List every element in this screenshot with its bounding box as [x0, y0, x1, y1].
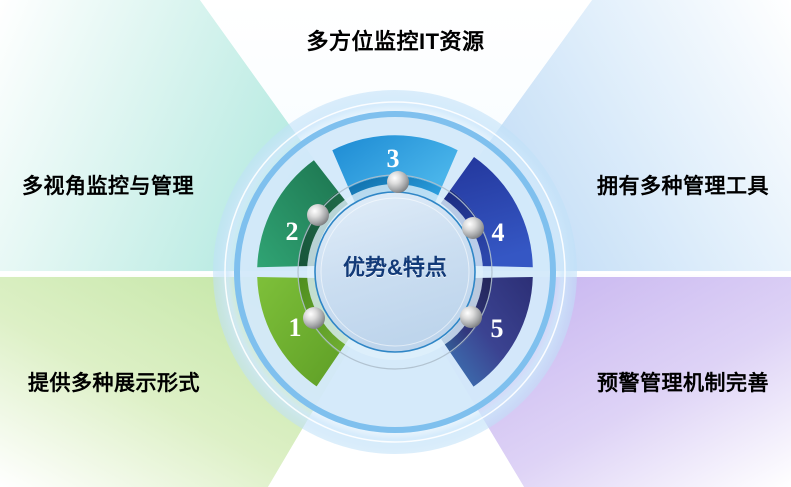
label-bottom-left: 提供多种展示形式: [28, 367, 200, 397]
marker-4-ball[interactable]: [462, 217, 484, 239]
segment-number-4: 4: [492, 218, 505, 247]
wheel-layer: 3 2 1 4 5: [0, 0, 791, 487]
infographic-canvas: 3 2 1 4 5 多方位监控IT资源 多视角监控与管理 拥有多种管理工具 提供…: [0, 0, 791, 487]
marker-5-ball[interactable]: [460, 306, 482, 328]
segment-number-5: 5: [491, 314, 504, 343]
page-title: 多方位监控IT资源: [0, 24, 791, 56]
marker-3-ball[interactable]: [387, 171, 409, 193]
label-bottom-right: 预警管理机制完善: [597, 367, 769, 397]
segment-number-2: 2: [286, 217, 299, 246]
label-top-left: 多视角监控与管理: [22, 170, 194, 200]
marker-1-ball[interactable]: [303, 307, 325, 329]
segment-number-3: 3: [387, 144, 400, 173]
segment-number-1: 1: [289, 313, 302, 342]
label-top-right: 拥有多种管理工具: [597, 170, 769, 200]
marker-2-ball[interactable]: [307, 204, 329, 226]
center-label: 优势&特点: [315, 250, 475, 282]
